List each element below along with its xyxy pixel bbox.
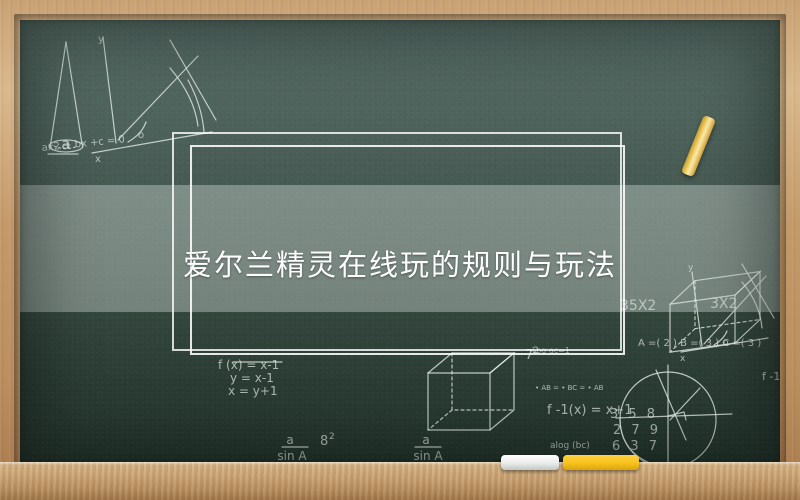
tray-wood-grain bbox=[0, 462, 800, 500]
screenshot-root: a ax2 + bx +c = 0 y x o y x o f (x) = x-… bbox=[0, 0, 800, 500]
frame-inner-shadow bbox=[14, 14, 786, 470]
tray-lip-highlight bbox=[0, 462, 800, 465]
white-chalk-icon bbox=[501, 455, 559, 470]
yellow-chalk-tray-icon bbox=[563, 455, 639, 470]
chalk-tray bbox=[0, 462, 800, 500]
